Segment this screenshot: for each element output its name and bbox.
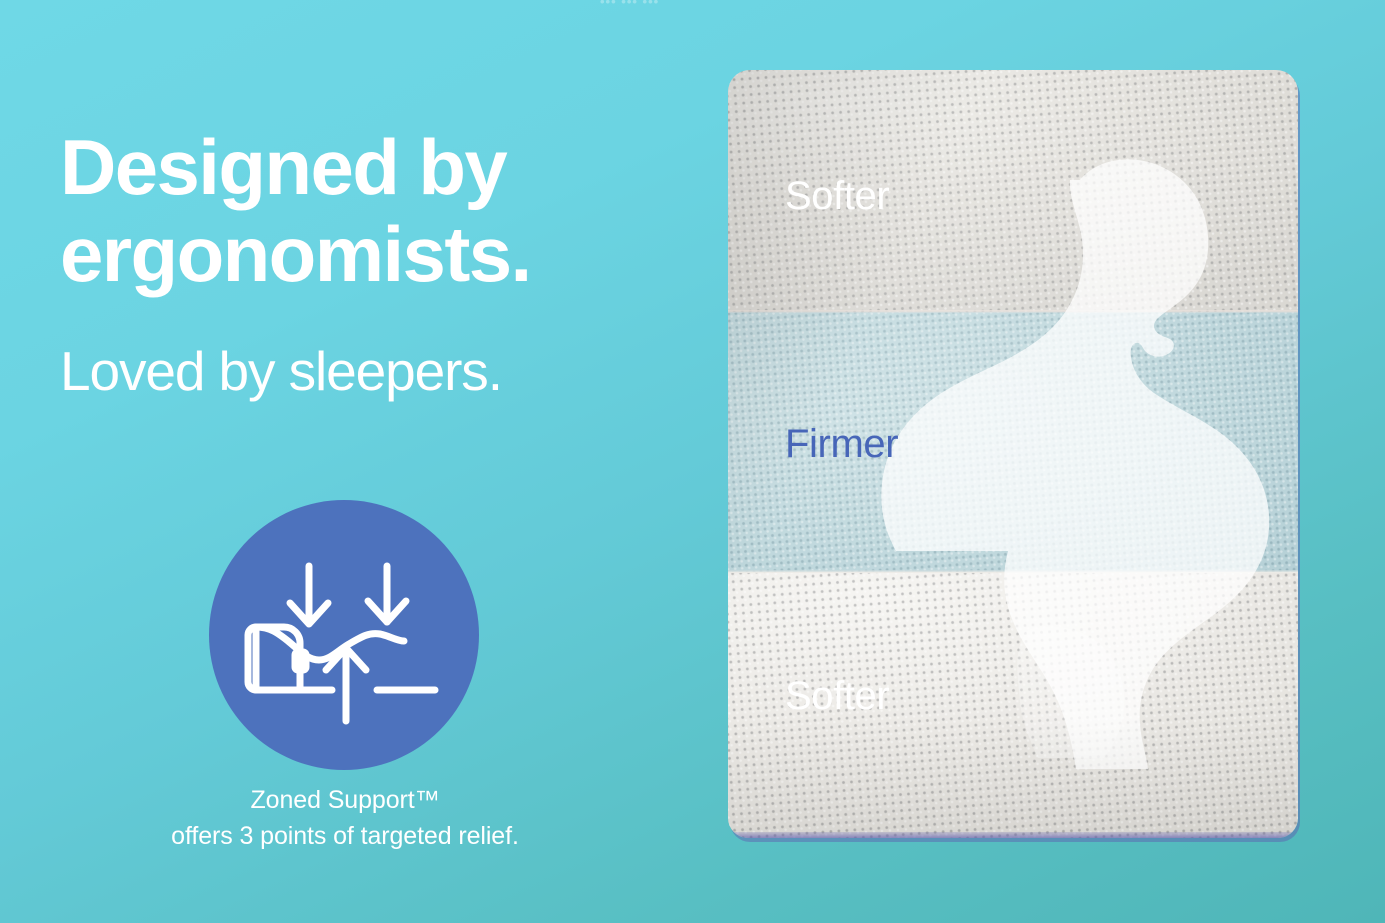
promo-banner: ••• ••• ••• Designed by ergonomists. Lov… [0, 0, 1385, 923]
zoned-support-icon [209, 500, 479, 770]
subtitle: Loved by sleepers. [60, 341, 680, 403]
mattress-image: Softer Firmer Softer [728, 70, 1298, 838]
mattress-bottom-edge [728, 832, 1298, 838]
zone-label-softer-top: Softer [785, 174, 889, 219]
badge-caption-line-2: offers 3 points of targeted relief. [60, 819, 630, 855]
headline-line-2: ergonomists. [60, 211, 680, 298]
zone-seam-upper [728, 310, 1298, 313]
page-title: Designed by ergonomists. [60, 124, 680, 299]
headline-line-1: Designed by [60, 124, 680, 211]
badge-caption-line-1: Zoned Support™ [60, 783, 630, 819]
badge-caption: Zoned Support™ offers 3 points of target… [60, 783, 630, 854]
zone-label-firmer: Firmer [785, 422, 898, 467]
zone-seam-lower [728, 570, 1298, 573]
zoned-support-badge [209, 500, 479, 770]
zone-label-softer-bottom: Softer [785, 674, 889, 719]
copy-column: Designed by ergonomists. Loved by sleepe… [0, 0, 690, 923]
